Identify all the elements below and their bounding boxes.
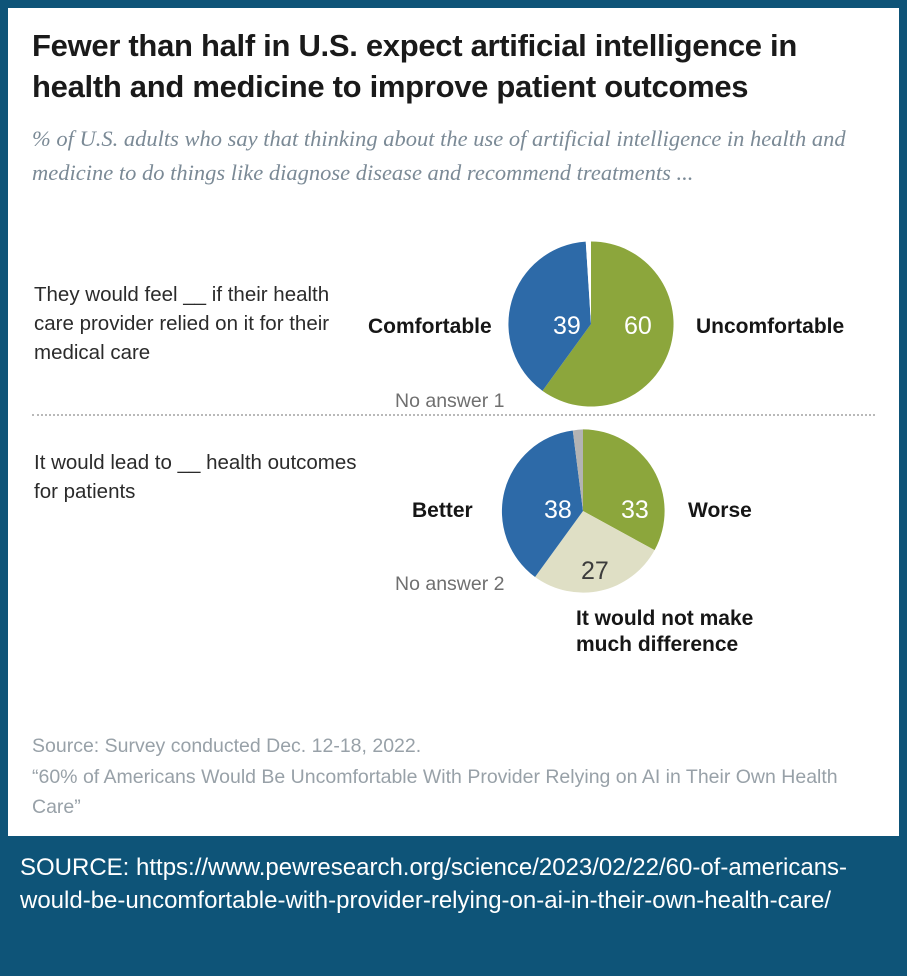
pie-value-no-difference: 27	[581, 559, 609, 584]
pie-value-comfortable: 39	[553, 314, 581, 339]
source-note-line1: Source: Survey conducted Dec. 12-18, 202…	[32, 731, 872, 761]
pie-value-better: 38	[544, 498, 572, 523]
chart-subtitle: % of U.S. adults who say that thinking a…	[32, 122, 877, 190]
row-label-outcome: It would lead to __ health outcomes for …	[30, 416, 360, 506]
pie-label-worse: Worse	[688, 498, 752, 524]
chart-row-outcome: It would lead to __ health outcomes for …	[30, 416, 877, 646]
source-note: Source: Survey conducted Dec. 12-18, 202…	[32, 731, 872, 822]
chart-row-comfort: They would feel __ if their health care …	[30, 238, 877, 408]
pie-chart-comfort-area: 39 60 Comfortable Uncomfortable No answe…	[360, 238, 877, 408]
pie-label-no-difference: It would not make much difference	[576, 606, 781, 657]
source-url-band: SOURCE: https://www.pewresearch.org/scie…	[8, 844, 899, 968]
pie-label-better: Better	[412, 498, 473, 524]
pie-value-worse: 33	[621, 498, 649, 523]
source-note-line2: “60% of Americans Would Be Uncomfortable…	[32, 762, 872, 822]
pie-label-comfortable: Comfortable	[368, 314, 492, 340]
chart-card: Fewer than half in U.S. expect artificia…	[8, 8, 899, 836]
row-label-comfort: They would feel __ if their health care …	[30, 238, 360, 367]
pie-chart-outcome-area: 38 33 27 Better Worse No answer 2 It wou…	[360, 416, 877, 646]
pie-value-uncomfortable: 60	[624, 314, 652, 339]
pie-label-no-answer-comfort: No answer 1	[395, 390, 504, 413]
page-title: Fewer than half in U.S. expect artificia…	[30, 26, 877, 108]
infographic-page: Fewer than half in U.S. expect artificia…	[0, 0, 907, 976]
pie-label-uncomfortable: Uncomfortable	[696, 314, 844, 340]
pie-label-no-answer-outcome: No answer 2	[395, 573, 504, 596]
